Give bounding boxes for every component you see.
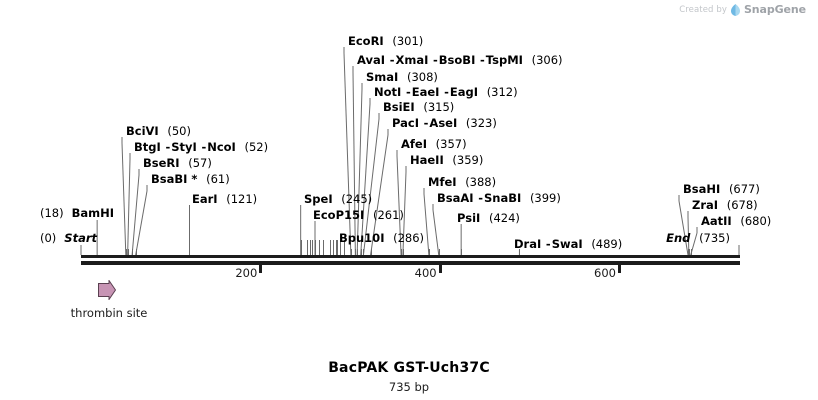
plasmid-name: BacPAK GST-Uch37C: [0, 360, 818, 376]
site-label-zrai[interactable]: ZraI (678): [692, 199, 758, 211]
enzyme-name: BsiEI: [383, 100, 415, 114]
plasmid-title-block: BacPAK GST-Uch37C 735 bp: [0, 360, 818, 394]
leader-slant-mfei: [424, 194, 429, 255]
site-tick-ecori: [351, 249, 352, 255]
enzyme-name: -: [545, 237, 552, 251]
site-label-ecori[interactable]: EcoRI (301): [348, 35, 423, 47]
enzyme-name: BsaHI: [683, 182, 720, 196]
site-label-start[interactable]: (0)Start: [40, 232, 97, 244]
extra-site-tick-6: [323, 240, 324, 255]
site-position: (261): [368, 208, 404, 222]
enzyme-name: PsiI: [457, 211, 480, 225]
end-marker-position: (735): [694, 231, 730, 245]
ruler-tick: [259, 265, 262, 273]
enzyme-name: SmaI: [366, 70, 398, 84]
enzyme-name: -: [479, 53, 486, 67]
enzyme-name: EcoP15I: [313, 208, 364, 222]
site-position: (306): [527, 53, 563, 67]
enzyme-name: Start: [64, 231, 97, 245]
enzyme-name: BseRI: [143, 156, 180, 170]
site-label-bsahi[interactable]: BsaHI (677): [683, 183, 760, 195]
enzyme-name: -: [443, 85, 450, 99]
feature-arrow-shape: [99, 281, 116, 300]
site-tick-bsiei: [363, 249, 364, 255]
site-position: (680): [735, 214, 771, 228]
leader-slant-bsabi: [136, 191, 147, 255]
site-position: (315): [418, 100, 454, 114]
enzyme-name: BamHI: [72, 206, 114, 220]
feature-label-thrombin-site: thrombin site: [71, 306, 148, 320]
site-label-haeii[interactable]: HaeII (359): [410, 154, 483, 166]
site-position: (359): [447, 153, 483, 167]
site-tick-bsabi: [136, 249, 137, 255]
site-label-avai-xmai-bsobi-tspmi[interactable]: AvaI -XmaI -BsoBI -TspMI (306): [357, 54, 563, 66]
site-label-smai[interactable]: SmaI (308): [366, 71, 438, 83]
ruler-tick: [439, 265, 442, 273]
site-tick-bsaai-snabi: [439, 249, 440, 255]
leader-slant-bseri: [132, 175, 139, 255]
enzyme-name: EagI: [450, 85, 478, 99]
site-label-bpu10i[interactable]: Bpu10I (286): [339, 232, 424, 244]
enzyme-name: HaeII: [410, 153, 444, 167]
site-position: (286): [388, 231, 424, 245]
extra-site-tick-4: [315, 240, 316, 255]
site-tick-avai-xmai-bsobi-tspmi: [355, 249, 356, 255]
extra-site-tick-8: [333, 240, 334, 255]
enzyme-name: PacI: [392, 116, 419, 130]
site-label-bcivi[interactable]: BciVI (50): [126, 125, 191, 137]
enzyme-name: -: [477, 191, 484, 205]
enzyme-name: AvaI: [357, 53, 385, 67]
site-tick-zrai: [689, 249, 690, 255]
site-tick-bseri: [132, 249, 133, 255]
site-position: (50): [162, 124, 191, 138]
plasmid-backbone-lower-strand: [81, 261, 740, 265]
enzyme-name: NotI: [374, 85, 401, 99]
site-position: (388): [460, 175, 496, 189]
enzyme-name: BsaBI *: [151, 172, 197, 186]
enzyme-name: Bpu10I: [339, 231, 384, 245]
enzyme-name: DraI: [514, 237, 541, 251]
site-label-ecop15i[interactable]: EcoP15I (261): [313, 209, 404, 221]
site-label-bamhi[interactable]: (18)BamHI: [40, 207, 114, 219]
site-tick-afei: [401, 249, 402, 255]
extra-site-tick-0: [301, 240, 302, 255]
extra-site-tick-1: [307, 240, 308, 255]
enzyme-name: BtgI: [134, 140, 161, 154]
site-position: (424): [484, 211, 520, 225]
site-position: (52): [240, 140, 269, 154]
leader-slant-btgi-styi-ncoi: [128, 159, 130, 255]
enzyme-name: StyI: [171, 140, 197, 154]
site-label-spei[interactable]: SpeI (245): [304, 193, 372, 205]
site-position: (399): [525, 191, 561, 205]
ruler-label: 200: [235, 266, 257, 280]
site-tick-noti-eaei-eagi: [361, 249, 362, 255]
enzyme-name: SpeI: [304, 192, 333, 206]
leader-slant-bsaai-snabi: [433, 210, 439, 255]
site-tick-haeii: [403, 249, 404, 255]
site-label-btgi-styi-ncoi[interactable]: BtgI -StyI -NcoI (52): [134, 141, 268, 153]
site-label-drai-swai[interactable]: DraI -SwaI (489): [514, 238, 622, 250]
enzyme-name: XmaI: [395, 53, 428, 67]
leader-slant-bsahi: [679, 201, 688, 255]
site-position: (489): [586, 237, 622, 251]
site-position: (677): [724, 182, 760, 196]
enzyme-name: SwaI: [552, 237, 583, 251]
site-position: (61): [201, 172, 230, 186]
site-label-bsabi[interactable]: BsaBI * (61): [151, 173, 230, 185]
site-label-mfei[interactable]: MfeI (388): [428, 176, 496, 188]
site-label-psii[interactable]: PsiI (424): [457, 212, 520, 224]
site-label-bsiei[interactable]: BsiEI (315): [383, 101, 454, 113]
site-position: (308): [402, 70, 438, 84]
site-position: (323): [461, 116, 497, 130]
plasmid-length: 735 bp: [0, 380, 818, 394]
site-tick-mfei: [429, 249, 430, 255]
site-label-eari[interactable]: EarI (121): [192, 193, 257, 205]
site-position: (0): [40, 231, 64, 245]
enzyme-name: BsaAI: [437, 191, 474, 205]
enzyme-name: AatII: [701, 214, 732, 228]
enzyme-name: AfeI: [401, 137, 427, 151]
enzyme-name: -: [405, 85, 412, 99]
snapgene-leaf-icon: [731, 4, 740, 16]
watermark-created-by-label: Created by: [679, 5, 727, 15]
site-tick-aatii: [691, 249, 692, 255]
enzyme-name: NcoI: [207, 140, 236, 154]
site-position: (57): [183, 156, 212, 170]
leader-slant-ecori: [344, 53, 351, 255]
extra-site-tick-10: [337, 240, 338, 255]
ruler-label: 400: [415, 266, 437, 280]
site-position: (18): [40, 206, 72, 220]
enzyme-name: MfeI: [428, 175, 457, 189]
end-marker-label: End: [666, 231, 690, 245]
enzyme-name: SnaBI: [484, 191, 521, 205]
enzyme-name: EarI: [192, 192, 218, 206]
extra-site-tick-2: [310, 240, 311, 255]
enzyme-name: EcoRI: [348, 34, 384, 48]
feature-arrow-thrombin-site[interactable]: [98, 280, 116, 304]
leader-slant-bcivi: [122, 143, 126, 255]
watermark-brand-label: SnapGene: [744, 3, 806, 16]
extra-site-tick-5: [319, 240, 320, 255]
plasmid-map: Created by SnapGene BciVI (50) BtgI -Sty…: [0, 0, 818, 400]
site-label-end[interactable]: End (735): [666, 232, 730, 244]
site-label-bseri[interactable]: BseRI (57): [143, 157, 212, 169]
extra-site-tick-7: [330, 240, 331, 255]
enzyme-name: -: [432, 53, 439, 67]
enzyme-name: EaeI: [412, 85, 440, 99]
site-tick-btgi-styi-ncoi: [128, 249, 129, 255]
site-label-bsaai-snabi[interactable]: BsaAI -SnaBI (399): [437, 192, 561, 204]
enzyme-name: BciVI: [126, 124, 159, 138]
ruler-tick: [618, 265, 621, 273]
leader-slant-avai-xmai-bsobi-tspmi: [353, 72, 355, 255]
enzyme-name: TspMI: [486, 53, 523, 67]
site-label-aatii[interactable]: AatII (680): [701, 215, 771, 227]
plasmid-backbone-upper-strand: [81, 255, 740, 258]
site-label-noti-eaei-eagi[interactable]: NotI -EaeI -EagI (312): [374, 86, 518, 98]
site-position: (245): [336, 192, 372, 206]
site-position: (312): [482, 85, 518, 99]
site-position: (121): [221, 192, 257, 206]
ruler-label: 600: [594, 266, 616, 280]
site-position: (301): [387, 34, 423, 48]
extra-site-tick-13: [189, 240, 190, 255]
site-tick-smai: [357, 249, 358, 255]
enzyme-name: BsoBI: [439, 53, 476, 67]
site-position: (678): [722, 198, 758, 212]
site-label-afei[interactable]: AfeI (357): [401, 138, 467, 150]
site-label-paci-asei[interactable]: PacI -AseI (323): [392, 117, 497, 129]
snapgene-watermark: Created by SnapGene: [679, 3, 806, 16]
enzyme-name: ZraI: [692, 198, 718, 212]
site-tick-bcivi: [126, 249, 127, 255]
enzyme-name: AseI: [429, 116, 457, 130]
site-position: (357): [431, 137, 467, 151]
extra-site-tick-3: [312, 240, 313, 255]
site-tick-paci-asei: [371, 249, 372, 255]
site-tick-psii: [461, 249, 462, 255]
